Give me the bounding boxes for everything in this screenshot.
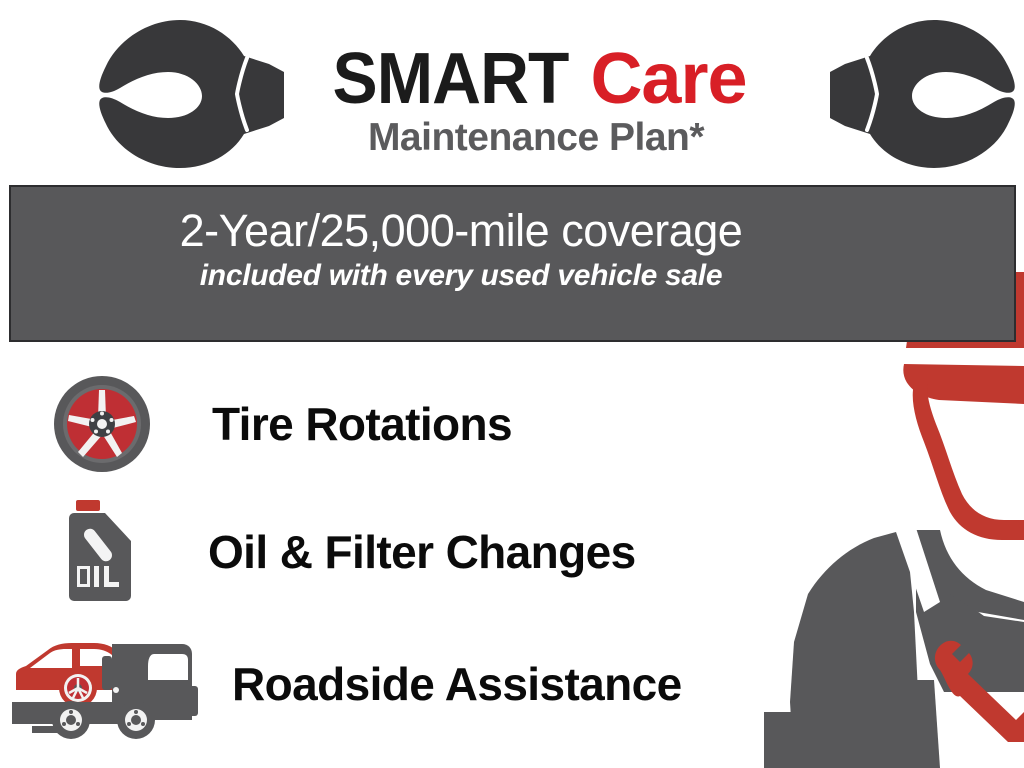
brand-wordmark: SMARTCare bbox=[276, 46, 796, 114]
coverage-banner-text: 2-Year/25,000-mile coverage included wit… bbox=[11, 187, 911, 296]
wrench-right-icon bbox=[800, 14, 1024, 172]
brand-smart-text: SMART bbox=[333, 46, 569, 114]
oil-jug-icon bbox=[64, 500, 138, 604]
tow-truck-icon bbox=[8, 628, 208, 740]
brand-logo-text: SMARTCare Maintenance Plan* bbox=[276, 46, 796, 160]
feature-label-roadside-assistance: Roadside Assistance bbox=[232, 657, 682, 711]
feature-item-tire-rotations: Tire Rotations bbox=[52, 374, 512, 474]
brand-care-text: Care bbox=[590, 46, 746, 114]
feature-label-oil-filter-changes: Oil & Filter Changes bbox=[208, 525, 636, 579]
mechanic-with-wrench-illustration bbox=[764, 272, 1024, 768]
mechanic-overalls bbox=[764, 530, 1024, 768]
smart-care-promo-graphic: SMARTCare Maintenance Plan* 2-Year/25,00… bbox=[0, 0, 1024, 768]
brand-subtitle: Maintenance Plan* bbox=[276, 116, 796, 160]
coverage-banner: 2-Year/25,000-mile coverage included wit… bbox=[9, 185, 1016, 342]
header-logo-area: SMARTCare Maintenance Plan* bbox=[0, 0, 1024, 182]
coverage-subline: included with every used vehicle sale bbox=[11, 256, 911, 297]
tire-wheel-icon bbox=[52, 374, 152, 474]
feature-item-roadside-assistance: Roadside Assistance bbox=[8, 628, 682, 740]
coverage-headline: 2-Year/25,000-mile coverage bbox=[11, 207, 911, 256]
feature-label-tire-rotations: Tire Rotations bbox=[212, 397, 512, 451]
feature-item-oil-filter-changes: Oil & Filter Changes bbox=[64, 500, 636, 604]
